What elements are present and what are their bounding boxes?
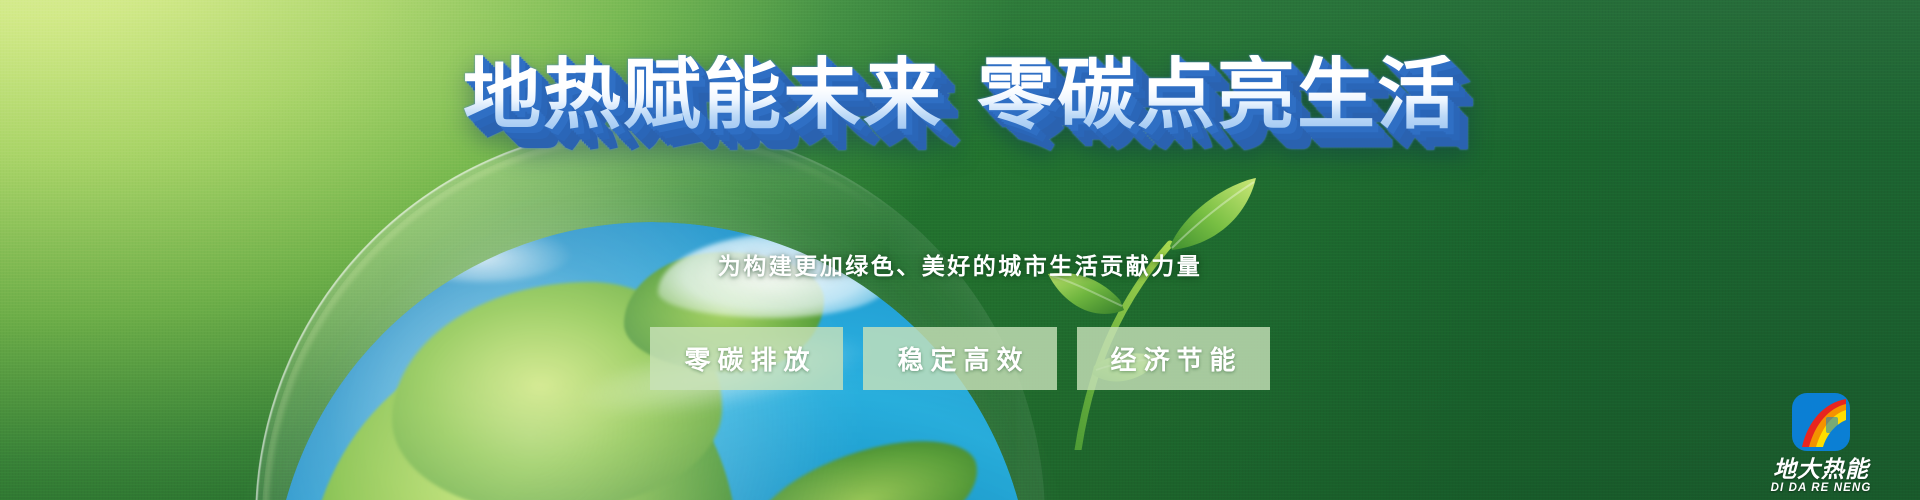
banner-title-line-b: 零碳点亮生活 <box>977 50 1457 138</box>
company-name-cn: 地大热能 <box>1758 457 1884 481</box>
sprout-icon <box>1020 120 1260 450</box>
banner-subtitle: 为构建更加绿色、美好的城市生活贡献力量 <box>0 247 1920 281</box>
feature-badge-economical[interactable]: 经济节能 <box>1077 327 1270 390</box>
banner-title: 地热赋能未来零碳点亮生活 <box>0 55 1920 133</box>
company-name-en: DI DA RE NENG <box>1758 482 1884 494</box>
feature-badge-stable-efficient[interactable]: 稳定高效 <box>863 327 1056 390</box>
banner-title-line-a: 地热赋能未来 <box>463 50 943 138</box>
brand-logo[interactable]: 地大热能 DI DA RE NENG <box>1758 391 1884 494</box>
feature-badge-zero-carbon[interactable]: 零碳排放 <box>650 327 843 390</box>
company-logo-icon <box>1790 391 1852 453</box>
feature-badge-list: 零碳排放 稳定高效 经济节能 <box>0 327 1920 390</box>
promo-banner: 地热赋能未来零碳点亮生活 为构建更加绿色、美好的城市生活贡献力量 零碳排放 稳定… <box>0 0 1920 500</box>
